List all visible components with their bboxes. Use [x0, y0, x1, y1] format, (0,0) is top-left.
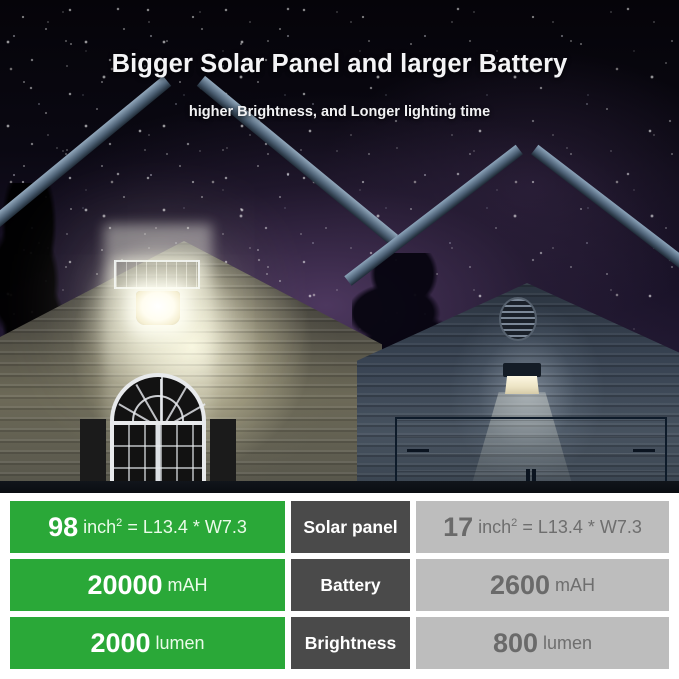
theirs-unit-solar-panel: inch2 = L13.4 * W7.3 — [478, 518, 642, 536]
hero-night-scene-photo: Bigger Solar Panel and larger Battery hi… — [0, 0, 679, 493]
theirs-value-solar-panel: 17 — [443, 514, 473, 541]
ours-cell-solar-panel: 98 inch2 = L13.4 * W7.3 — [10, 501, 285, 553]
product-feature-banner: Bigger Solar Panel and larger Battery hi… — [0, 0, 679, 679]
ours-unit-battery: mAH — [168, 576, 208, 594]
table-row: 20000 mAH Battery 2600 mAH — [10, 559, 669, 611]
ours-unit-brightness: lumen — [156, 634, 205, 652]
theirs-value-battery: 2600 — [490, 572, 550, 599]
ours-value-brightness: 2000 — [90, 630, 150, 657]
small-solar-lamp-housing — [503, 363, 541, 377]
theirs-value-brightness: 800 — [493, 630, 538, 657]
ours-unit-solar-panel: inch2 = L13.4 * W7.3 — [83, 518, 247, 536]
spec-label-brightness: Brightness — [291, 617, 410, 669]
ground-strip — [0, 481, 679, 493]
hero-title: Bigger Solar Panel and larger Battery — [0, 50, 679, 79]
bright-solar-lamp-head — [136, 291, 180, 325]
ours-value-solar-panel: 98 — [48, 514, 78, 541]
large-solar-panel-icon — [114, 260, 200, 289]
gable-vent-icon — [499, 297, 537, 341]
hero-subtitle: higher Brightness, and Longer lighting t… — [0, 104, 679, 120]
table-row: 98 inch2 = L13.4 * W7.3 Solar panel 17 i… — [10, 501, 669, 553]
theirs-unit-battery: mAH — [555, 576, 595, 594]
house-left-front-door — [110, 373, 206, 493]
house-left-bright — [0, 188, 382, 493]
dim-solar-lamp-head — [505, 376, 539, 394]
spec-comparison-table: 98 inch2 = L13.4 * W7.3 Solar panel 17 i… — [0, 493, 679, 679]
theirs-cell-brightness: 800 lumen — [416, 617, 669, 669]
ours-cell-brightness: 2000 lumen — [10, 617, 285, 669]
ours-value-battery: 20000 — [87, 572, 162, 599]
table-row: 2000 lumen Brightness 800 lumen — [10, 617, 669, 669]
spec-label-battery: Battery — [291, 559, 410, 611]
spec-label-solar-panel: Solar panel — [291, 501, 410, 553]
arched-transom-window — [110, 373, 206, 425]
theirs-cell-solar-panel: 17 inch2 = L13.4 * W7.3 — [416, 501, 669, 553]
theirs-cell-battery: 2600 mAH — [416, 559, 669, 611]
house-right-dim — [357, 235, 679, 493]
ours-cell-battery: 20000 mAH — [10, 559, 285, 611]
theirs-unit-brightness: lumen — [543, 634, 592, 652]
